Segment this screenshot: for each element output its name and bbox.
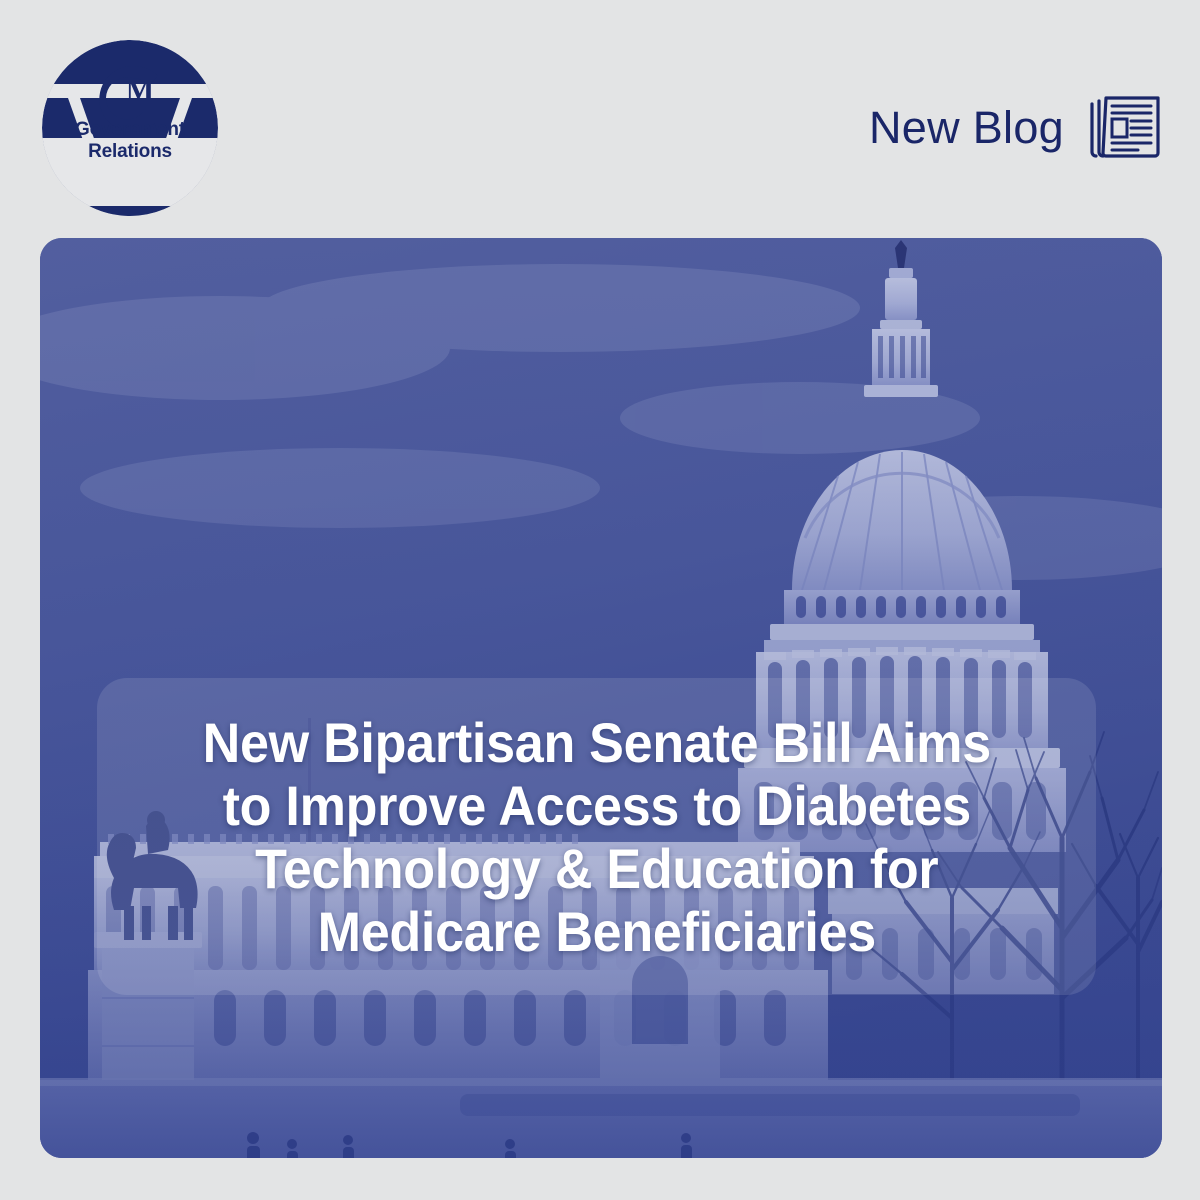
blog-post-title: New Bipartisan Senate Bill Aims to Impro… [186, 711, 1008, 963]
newspaper-icon [1086, 92, 1162, 162]
new-blog-badge[interactable]: New Blog [869, 92, 1162, 162]
svg-text:M: M [126, 74, 154, 107]
logo-circle-icon: M [40, 38, 220, 218]
title-overlay-panel: New Bipartisan Senate Bill Aims to Impro… [97, 678, 1096, 995]
new-blog-label: New Blog [869, 105, 1064, 150]
page-header: M Government Relations New Blog [0, 0, 1200, 238]
brand-logo[interactable]: M Government Relations [40, 38, 220, 218]
blog-image-card[interactable]: New Bipartisan Senate Bill Aims to Impro… [40, 238, 1162, 1158]
